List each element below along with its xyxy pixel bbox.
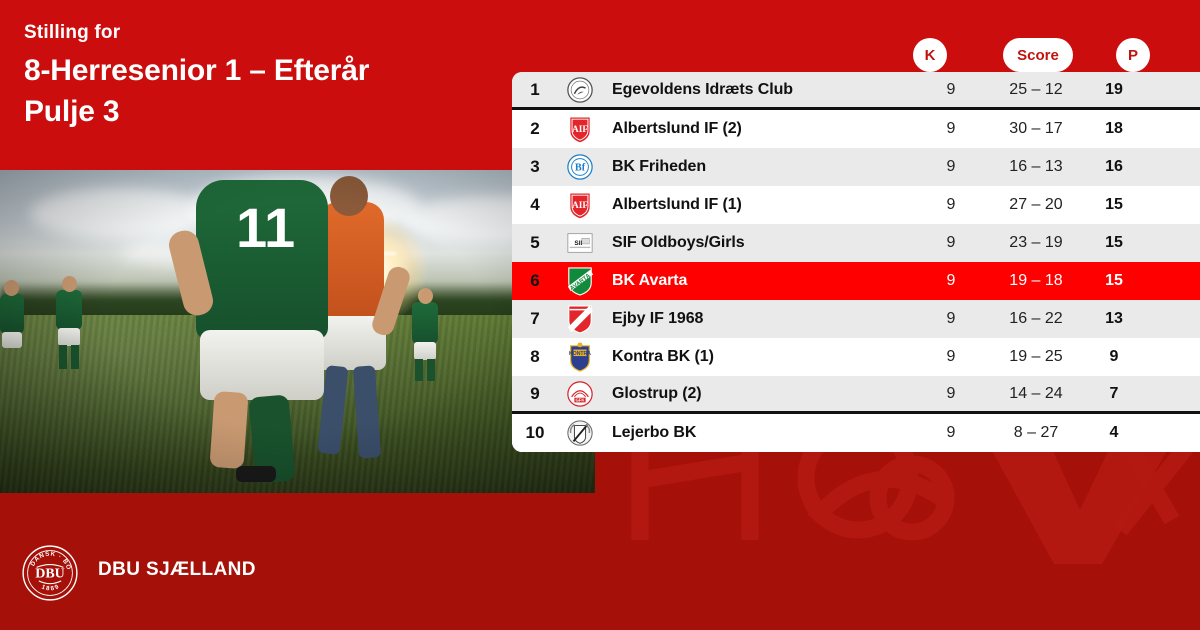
svg-text:Bf: Bf bbox=[575, 163, 586, 174]
cell-rank: 3 bbox=[512, 157, 558, 177]
column-badge-score: Score bbox=[1003, 38, 1073, 72]
table-row[interactable]: 10Lejerbo BK98 – 274 bbox=[512, 414, 1200, 452]
cell-score: 16 – 22 bbox=[988, 310, 1084, 328]
cell-rank: 5 bbox=[512, 233, 558, 253]
cell-matches: 9 bbox=[914, 272, 988, 290]
cell-team-name: Albertslund IF (2) bbox=[602, 120, 914, 138]
cell-matches: 9 bbox=[914, 81, 988, 99]
standings-table: 1Egevoldens Idræts Club925 – 12192AIFAlb… bbox=[512, 72, 1200, 452]
cell-points: 15 bbox=[1084, 272, 1144, 290]
cell-score: 25 – 12 bbox=[988, 81, 1084, 99]
table-row[interactable]: 2AIFAlbertslund IF (2)930 – 1718 bbox=[512, 110, 1200, 148]
cell-points: 9 bbox=[1084, 348, 1144, 366]
cell-rank: 9 bbox=[512, 384, 558, 404]
cell-points: 18 bbox=[1084, 120, 1144, 138]
ejby-if-1968-crest bbox=[558, 304, 602, 334]
cell-score: 30 – 17 bbox=[988, 120, 1084, 138]
cell-score: 23 – 19 bbox=[988, 234, 1084, 252]
cell-score: 14 – 24 bbox=[988, 385, 1084, 403]
glostrup-crest: GFK bbox=[558, 379, 602, 409]
cell-matches: 9 bbox=[914, 234, 988, 252]
cell-team-name: Ejby IF 1968 bbox=[602, 310, 914, 328]
svg-text:AIF: AIF bbox=[572, 125, 588, 135]
cell-matches: 9 bbox=[914, 385, 988, 403]
cell-points: 19 bbox=[1084, 81, 1144, 99]
sif-oldboys-girls-crest: SIF bbox=[558, 228, 602, 258]
bk-avarta-crest: AVARTA bbox=[558, 266, 602, 296]
table-row[interactable]: 6AVARTABK Avarta919 – 1815 bbox=[512, 262, 1200, 300]
cell-score: 8 – 27 bbox=[988, 424, 1084, 442]
cell-points: 13 bbox=[1084, 310, 1144, 328]
cell-team-name: SIF Oldboys/Girls bbox=[602, 234, 914, 252]
cell-points: 4 bbox=[1084, 424, 1144, 442]
cell-team-name: Albertslund IF (1) bbox=[602, 196, 914, 214]
cell-rank: 4 bbox=[512, 195, 558, 215]
cell-rank: 6 bbox=[512, 271, 558, 291]
cell-team-name: Glostrup (2) bbox=[602, 385, 914, 403]
table-column-badges: K Score P bbox=[0, 38, 1200, 72]
lejerbo-bk-crest bbox=[558, 418, 602, 448]
table-row[interactable]: 8KONTRAKontra BK (1)919 – 259 bbox=[512, 338, 1200, 376]
cell-points: 7 bbox=[1084, 385, 1144, 403]
bk-friheden-crest: Bf bbox=[558, 152, 602, 182]
page-header: Stilling for 8-Herresenior 1 – Efterår P… bbox=[0, 0, 500, 170]
footer-brand: DBU SJÆLLAND bbox=[98, 559, 256, 581]
cell-team-name: BK Friheden bbox=[602, 158, 914, 176]
page-title-line-2: Pulje 3 bbox=[24, 91, 484, 132]
cell-score: 16 – 13 bbox=[988, 158, 1084, 176]
cell-points: 15 bbox=[1084, 234, 1144, 252]
photo-vignette bbox=[0, 170, 595, 493]
cell-matches: 9 bbox=[914, 348, 988, 366]
cell-matches: 9 bbox=[914, 424, 988, 442]
table-row[interactable]: 3BfBK Friheden916 – 1316 bbox=[512, 148, 1200, 186]
table-row[interactable]: 7Ejby IF 1968916 – 2213 bbox=[512, 300, 1200, 338]
cell-score: 27 – 20 bbox=[988, 196, 1084, 214]
table-row[interactable]: 5SIFSIF Oldboys/Girls923 – 1915 bbox=[512, 224, 1200, 262]
cell-points: 15 bbox=[1084, 196, 1144, 214]
kontra-bk-crest: KONTRA bbox=[558, 342, 602, 372]
table-row[interactable]: 4AIFAlbertslund IF (1)927 – 2015 bbox=[512, 186, 1200, 224]
svg-text:GFK: GFK bbox=[575, 397, 585, 402]
cell-rank: 2 bbox=[512, 119, 558, 139]
page-footer: DANSK · BOLDSPIL · UNION 1889 DBU DBU SJ… bbox=[0, 493, 1200, 630]
albertslund-if-crest: AIF bbox=[558, 190, 602, 220]
cell-rank: 7 bbox=[512, 309, 558, 329]
egevoldens-idraets-club-crest bbox=[558, 75, 602, 105]
cell-score: 19 – 18 bbox=[988, 272, 1084, 290]
cell-team-name: Egevoldens Idræts Club bbox=[602, 81, 914, 99]
svg-text:KONTRA: KONTRA bbox=[569, 351, 591, 357]
cell-score: 19 – 25 bbox=[988, 348, 1084, 366]
cell-matches: 9 bbox=[914, 158, 988, 176]
hero-photo: 11 bbox=[0, 170, 595, 493]
table-row[interactable]: 9GFKGlostrup (2)914 – 247 bbox=[512, 376, 1200, 414]
albertslund-if-crest: AIF bbox=[558, 114, 602, 144]
cell-rank: 8 bbox=[512, 347, 558, 367]
svg-text:DBU: DBU bbox=[35, 566, 65, 581]
cell-matches: 9 bbox=[914, 310, 988, 328]
svg-text:AIF: AIF bbox=[572, 201, 588, 211]
column-badge-points: P bbox=[1116, 38, 1150, 72]
cell-team-name: Kontra BK (1) bbox=[602, 348, 914, 366]
cell-team-name: BK Avarta bbox=[602, 272, 914, 290]
column-badge-matches: K bbox=[913, 38, 947, 72]
cell-matches: 9 bbox=[914, 120, 988, 138]
cell-matches: 9 bbox=[914, 196, 988, 214]
dbu-logo: DANSK · BOLDSPIL · UNION 1889 DBU bbox=[22, 545, 78, 606]
cell-rank: 10 bbox=[512, 423, 558, 443]
cell-points: 16 bbox=[1084, 158, 1144, 176]
table-row[interactable]: 1Egevoldens Idræts Club925 – 1219 bbox=[512, 72, 1200, 110]
cell-rank: 1 bbox=[512, 80, 558, 100]
cell-team-name: Lejerbo BK bbox=[602, 424, 914, 442]
